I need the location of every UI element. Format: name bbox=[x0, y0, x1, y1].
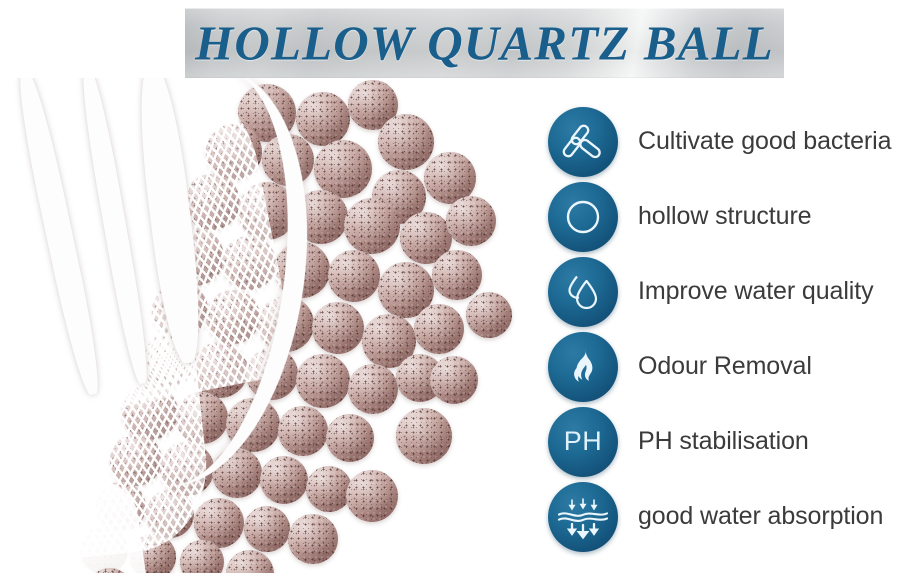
quartz-ball bbox=[288, 514, 338, 564]
feature-item: hollow structure bbox=[548, 179, 922, 254]
quartz-ball bbox=[328, 250, 380, 302]
quartz-ball bbox=[432, 250, 482, 300]
page-title: HOLLOW QUARTZ BALL bbox=[185, 15, 784, 72]
quartz-ball bbox=[396, 408, 452, 464]
quartz-ball bbox=[446, 196, 496, 246]
feature-label: Odour Removal bbox=[638, 352, 812, 381]
water-absorption-icon bbox=[548, 482, 618, 552]
feature-label: hollow structure bbox=[638, 202, 811, 231]
quartz-ball bbox=[226, 550, 274, 573]
feature-list: Cultivate good bacteria hollow structure bbox=[548, 104, 922, 554]
quartz-ball bbox=[296, 354, 350, 408]
product-infographic: HOLLOW QUARTZ BALL bbox=[0, 0, 922, 573]
quartz-ball bbox=[346, 470, 398, 522]
quartz-ball bbox=[312, 302, 364, 354]
flame-icon bbox=[548, 332, 618, 402]
quartz-ball bbox=[348, 364, 398, 414]
title-banner: HOLLOW QUARTZ BALL bbox=[185, 8, 784, 78]
quartz-ball bbox=[306, 466, 352, 512]
feature-label: PH stabilisation bbox=[638, 427, 809, 456]
quartz-ball bbox=[296, 92, 350, 146]
quartz-ball bbox=[430, 356, 478, 404]
quartz-ball bbox=[260, 456, 308, 504]
quartz-ball bbox=[414, 304, 464, 354]
bacteria-icon bbox=[548, 107, 618, 177]
quartz-ball bbox=[378, 114, 434, 170]
quartz-ball bbox=[278, 406, 328, 456]
water-droplets-icon bbox=[548, 257, 618, 327]
ring-hollow-icon bbox=[548, 182, 618, 252]
ph-icon: PH bbox=[548, 407, 618, 477]
quartz-ball bbox=[466, 292, 512, 338]
quartz-ball bbox=[244, 506, 290, 552]
quartz-ball bbox=[344, 198, 400, 254]
feature-label: good water absorption bbox=[638, 502, 883, 531]
feature-item: Cultivate good bacteria bbox=[548, 104, 922, 179]
feature-item: Improve water quality bbox=[548, 254, 922, 329]
feature-label: Improve water quality bbox=[638, 277, 874, 306]
quartz-ball bbox=[326, 414, 374, 462]
ph-icon-text: PH bbox=[564, 428, 603, 455]
product-photo bbox=[0, 78, 540, 573]
feature-label: Cultivate good bacteria bbox=[638, 127, 891, 156]
feature-item: Odour Removal bbox=[548, 329, 922, 404]
feature-item: PH PH stabilisation bbox=[548, 404, 922, 479]
feature-item: good water absorption bbox=[548, 479, 922, 554]
